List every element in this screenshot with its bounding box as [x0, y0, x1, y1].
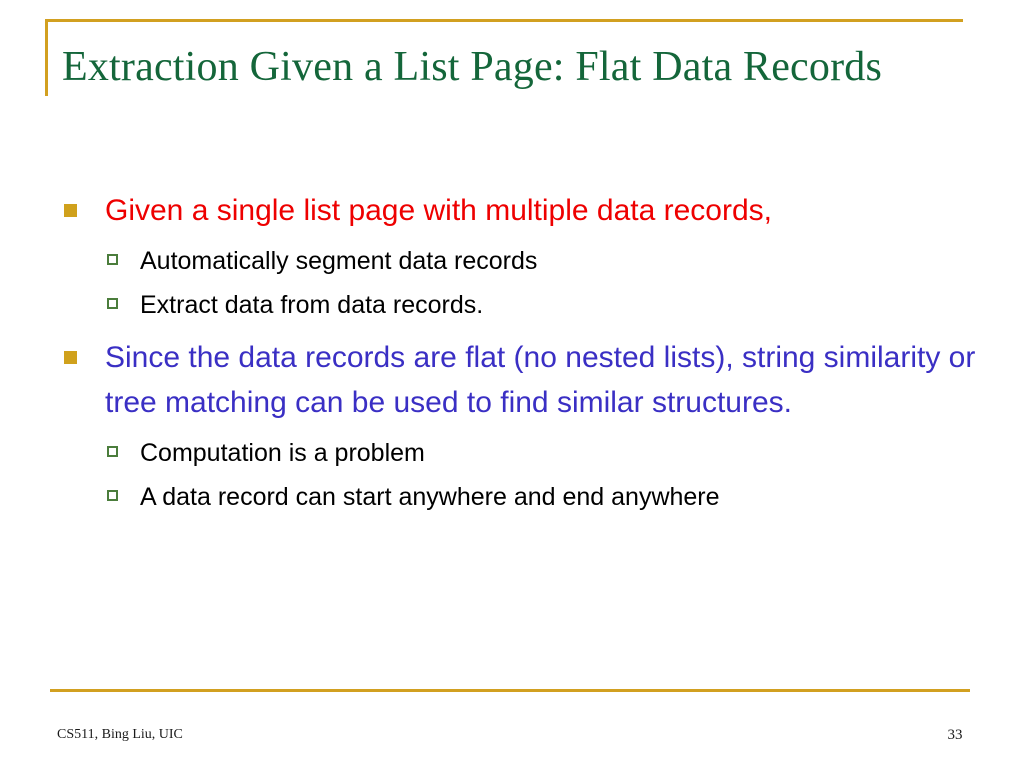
bullet-text: Given a single list page with multiple d… — [105, 194, 772, 227]
bullet-level2-segment: Automatically segment data records — [0, 239, 1024, 283]
slide: Extraction Given a List Page: Flat Data … — [0, 0, 1024, 768]
hollow-square-bullet-icon — [107, 446, 118, 457]
footer-rule — [50, 689, 970, 692]
bullet-level2-computation: Computation is a problem — [0, 431, 1024, 475]
bullet-text: Computation is a problem — [140, 439, 425, 467]
spacer — [0, 327, 1024, 335]
bullet-level1-since: Since the data records are flat (no nest… — [0, 335, 1024, 425]
square-bullet-icon — [64, 204, 77, 217]
bullet-level1-given: Given a single list page with multiple d… — [0, 188, 1024, 233]
slide-body: Given a single list page with multiple d… — [0, 188, 1024, 519]
title-left-rule — [45, 19, 48, 96]
bullet-level2-extract: Extract data from data records. — [0, 283, 1024, 327]
bullet-level2-record-anywhere: A data record can start anywhere and end… — [0, 475, 1024, 519]
hollow-square-bullet-icon — [107, 490, 118, 501]
bullet-text: Automatically segment data records — [140, 247, 537, 275]
hollow-square-bullet-icon — [107, 298, 118, 309]
footer-credit: CS511, Bing Liu, UIC — [57, 726, 183, 744]
page-number: 33 — [930, 726, 980, 744]
bullet-text: Since the data records are flat (no nest… — [105, 341, 975, 419]
title-top-rule — [45, 19, 963, 22]
square-bullet-icon — [64, 351, 77, 364]
bullet-text: A data record can start anywhere and end… — [140, 483, 720, 511]
slide-title: Extraction Given a List Page: Flat Data … — [62, 38, 962, 96]
bullet-text: Extract data from data records. — [140, 291, 483, 319]
hollow-square-bullet-icon — [107, 254, 118, 265]
